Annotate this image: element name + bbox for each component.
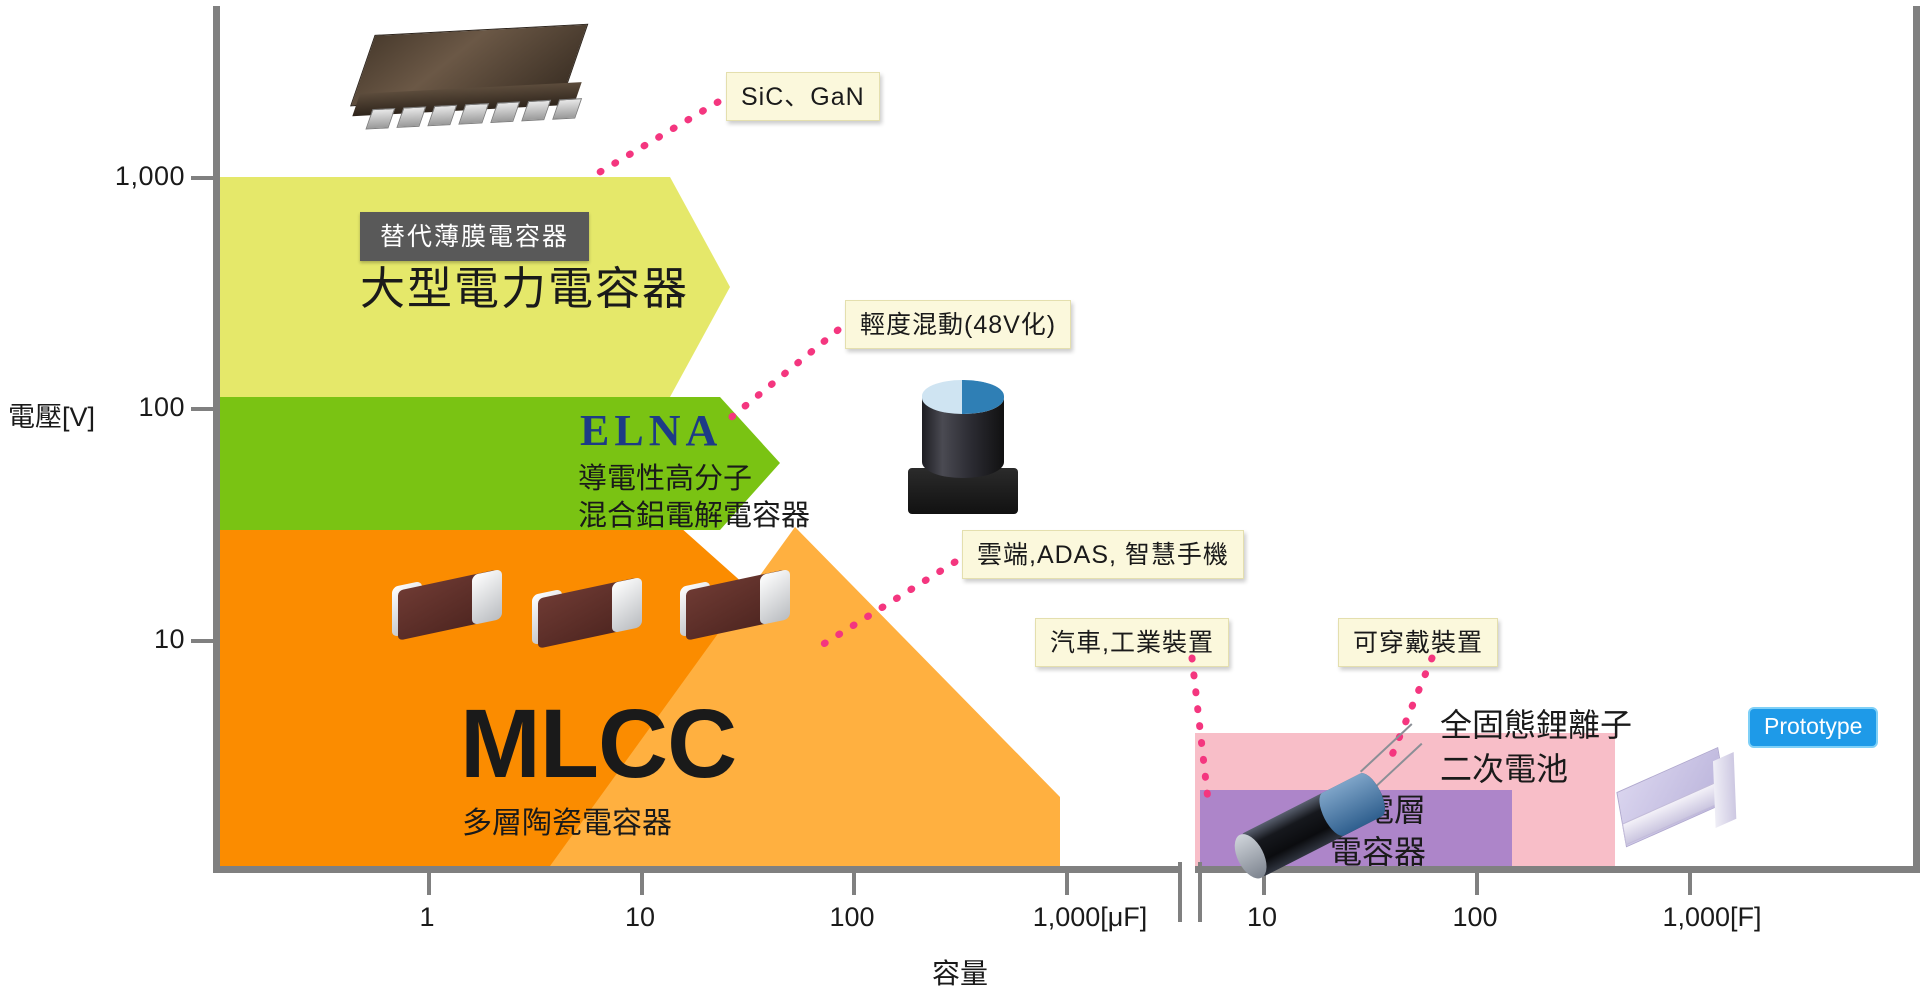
- solid-state-battery-image: [1613, 750, 1748, 864]
- y-tick-10-mark: [191, 639, 213, 643]
- mlcc-subtitle: 多層陶瓷電容器: [462, 798, 672, 842]
- y-tick-1000-mark: [191, 176, 213, 180]
- axis-break-left: [1178, 862, 1182, 922]
- elna-line-1: 導電性高分子: [578, 455, 752, 497]
- sic-gan-power-module-image: [353, 24, 588, 136]
- battery-line-1: 全固態鋰離子: [1440, 700, 1632, 746]
- y-tick-100-mark: [191, 407, 213, 411]
- x-tick-right-1000: 1,000[F]: [1622, 902, 1802, 933]
- x-axis-title: 容量: [0, 952, 1920, 992]
- x-axis-line-left: [213, 866, 1178, 873]
- mlcc-chip-image-3: [686, 574, 786, 640]
- callout-mild-hybrid: 輕度混動(48V化): [845, 300, 1071, 349]
- x-tick-right-100-mark: [1475, 873, 1479, 895]
- x-tick-right-10: 10: [1212, 902, 1312, 933]
- axis-break-right: [1198, 862, 1202, 922]
- callout-cloud-adas: 雲端,ADAS, 智慧手機: [962, 530, 1244, 579]
- plot-right-border: [1913, 6, 1920, 872]
- x-tick-1000-mark: [1065, 873, 1069, 895]
- chart-canvas: 1,000 100 10 電壓[V] 1 10 100 1,000[μF] 10…: [0, 0, 1920, 1000]
- x-tick-10-mark: [640, 873, 644, 895]
- x-tick-right-1000-mark: [1688, 873, 1692, 895]
- mlcc-chip-image-1: [398, 574, 498, 640]
- y-axis-line: [213, 6, 220, 872]
- battery-line-2: 二次電池: [1440, 744, 1568, 790]
- hybrid-aluminum-capacitor-image: [908, 380, 1018, 515]
- x-tick-1000: 1,000[μF]: [1000, 902, 1180, 933]
- y-axis-title: 電壓[V]: [8, 395, 95, 434]
- mlcc-title: MLCC: [460, 688, 736, 800]
- x-tick-10: 10: [590, 902, 690, 933]
- x-tick-100-mark: [852, 873, 856, 895]
- y-tick-1000: 1,000: [60, 161, 185, 192]
- callout-auto-industrial: 汽車,工業裝置: [1035, 618, 1229, 667]
- y-tick-10: 10: [60, 624, 185, 655]
- mlcc-chip-image-2: [538, 582, 638, 648]
- callout-sic-gan: SiC、GaN: [726, 72, 880, 121]
- x-tick-1: 1: [377, 902, 477, 933]
- x-tick-1-mark: [427, 873, 431, 895]
- x-tick-right-100: 100: [1425, 902, 1525, 933]
- elna-line-2: 混合鋁電解電容器: [578, 492, 810, 534]
- power-cap-title: 大型電力電容器: [360, 252, 689, 317]
- prototype-badge[interactable]: Prototype: [1748, 707, 1878, 748]
- callout-wearable: 可穿戴裝置: [1338, 618, 1498, 667]
- elna-logo: ELNA: [580, 405, 722, 456]
- x-tick-100: 100: [802, 902, 902, 933]
